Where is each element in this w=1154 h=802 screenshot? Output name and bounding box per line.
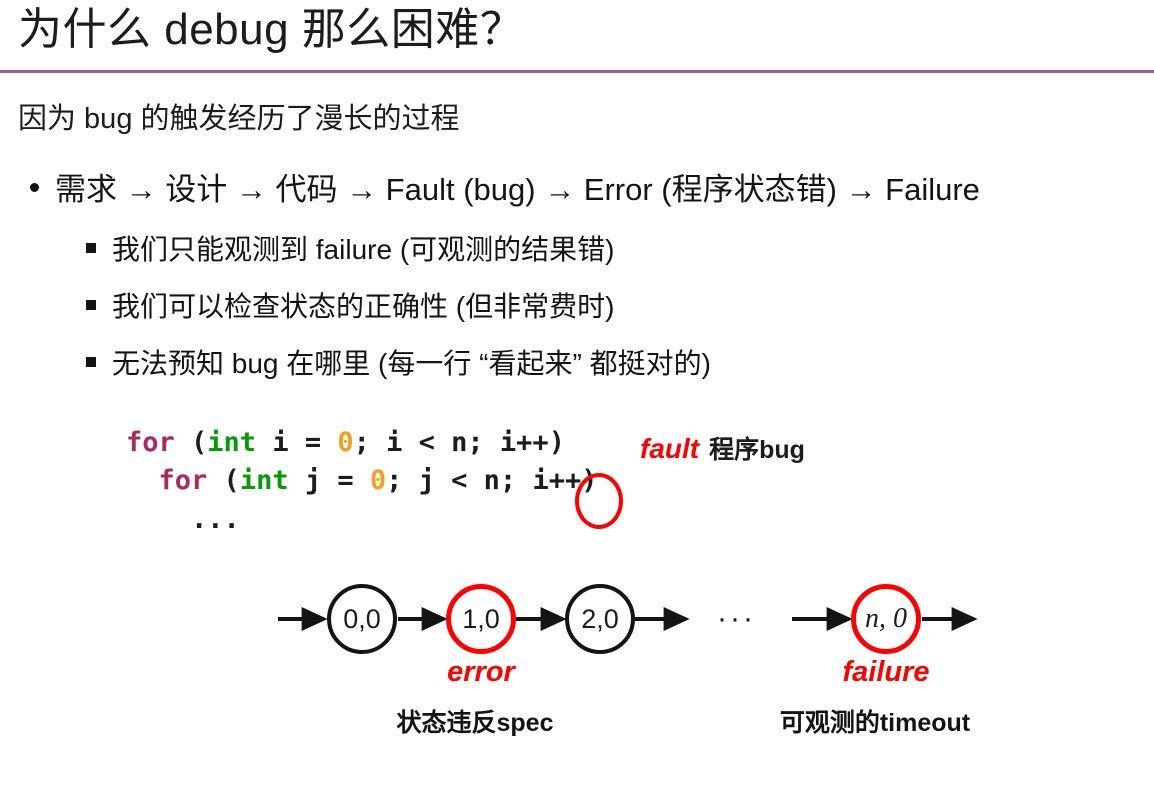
error-caption: error [416, 656, 546, 689]
code-line-2: for (int j = 0; j < n; i++) [126, 465, 597, 496]
state-node-label-1: 1,0 [462, 606, 500, 633]
bullet-level2-label-1: 我们可以检查状态的正确性 (但非常费时) [112, 290, 614, 324]
state-node-label-2: 2,0 [581, 606, 619, 633]
failure-caption: failure [816, 656, 956, 689]
bullet-level2-0: 我们只能观测到 failure (可观测的结果错) [86, 233, 614, 267]
code-text-2a: j = [289, 465, 370, 496]
state-machine-diagram: 0,0 1,0 2,0 n, 0 ··· error failure [262, 570, 992, 676]
code-punct-2a: ( [207, 465, 240, 496]
code-text-2b: ; j < n; i++) [386, 465, 597, 496]
bullet-square-marker-icon [86, 243, 96, 253]
state-node-0: 0,0 [327, 584, 397, 654]
code-keyword-for-1: for [126, 427, 175, 458]
title-divider [0, 70, 1154, 73]
state-node-label-n: n, 0 [865, 605, 907, 633]
bullet-level2-2: 无法预知 bug 在哪里 (每一行 “看起来” 都挺对的) [86, 347, 711, 381]
state-node-label-0: 0,0 [343, 606, 381, 633]
bullet-level1-label-0: 需求 → 设计 → 代码 → Fault (bug) → Error (程序状态… [55, 171, 980, 208]
error-bottom-caption: 状态违反spec [330, 703, 620, 739]
code-type-int-1: int [207, 427, 256, 458]
code-number-1: 0 [337, 427, 353, 458]
state-node-2: 2,0 [565, 584, 635, 654]
bullet-level2-1: 我们可以检查状态的正确性 (但非常费时) [86, 290, 614, 324]
code-type-int-2: int [240, 465, 289, 496]
code-punct-1a: ( [175, 427, 208, 458]
fault-note-text: 程序bug [709, 436, 805, 464]
red-ellipse-annotation-icon [575, 473, 623, 529]
state-node-1: 1,0 [446, 584, 516, 654]
code-line-1: for (int i = 0; i < n; i++) [126, 427, 565, 458]
diagram-ellipsis: ··· [717, 602, 756, 636]
state-node-n: n, 0 [851, 584, 921, 654]
bullet-level2-label-0: 我们只能观测到 failure (可观测的结果错) [112, 233, 614, 267]
bullet-square-marker-icon [86, 357, 96, 367]
page-title: 为什么 debug 那么困难？ [18, 4, 524, 57]
bullet-square-marker-icon [86, 300, 96, 310]
code-text-1b: ; i < n; i++) [354, 427, 565, 458]
code-indent-2 [126, 465, 159, 496]
code-number-2: 0 [370, 465, 386, 496]
code-keyword-for-2: for [159, 465, 208, 496]
code-line-3: ... [126, 504, 240, 535]
bullet-level2-label-2: 无法预知 bug 在哪里 (每一行 “看起来” 都挺对的) [112, 347, 711, 381]
subtitle-text: 因为 bug 的触发经历了漫长的过程 [18, 101, 460, 137]
slide-root: { "slide": { "title": "为什么 debug 那么困难？",… [0, 0, 1154, 802]
failure-bottom-caption: 可观测的timeout [730, 703, 1020, 739]
bullet-level1-0: 需求 → 设计 → 代码 → Fault (bug) → Error (程序状态… [30, 171, 980, 208]
fault-label: fault [640, 433, 699, 464]
code-snippet: for (int i = 0; i < n; i++) for (int j =… [126, 424, 597, 539]
bullet-round-marker-icon [30, 183, 39, 192]
code-text-1a: i = [256, 427, 337, 458]
fault-annotation: fault程序bug [640, 430, 805, 466]
